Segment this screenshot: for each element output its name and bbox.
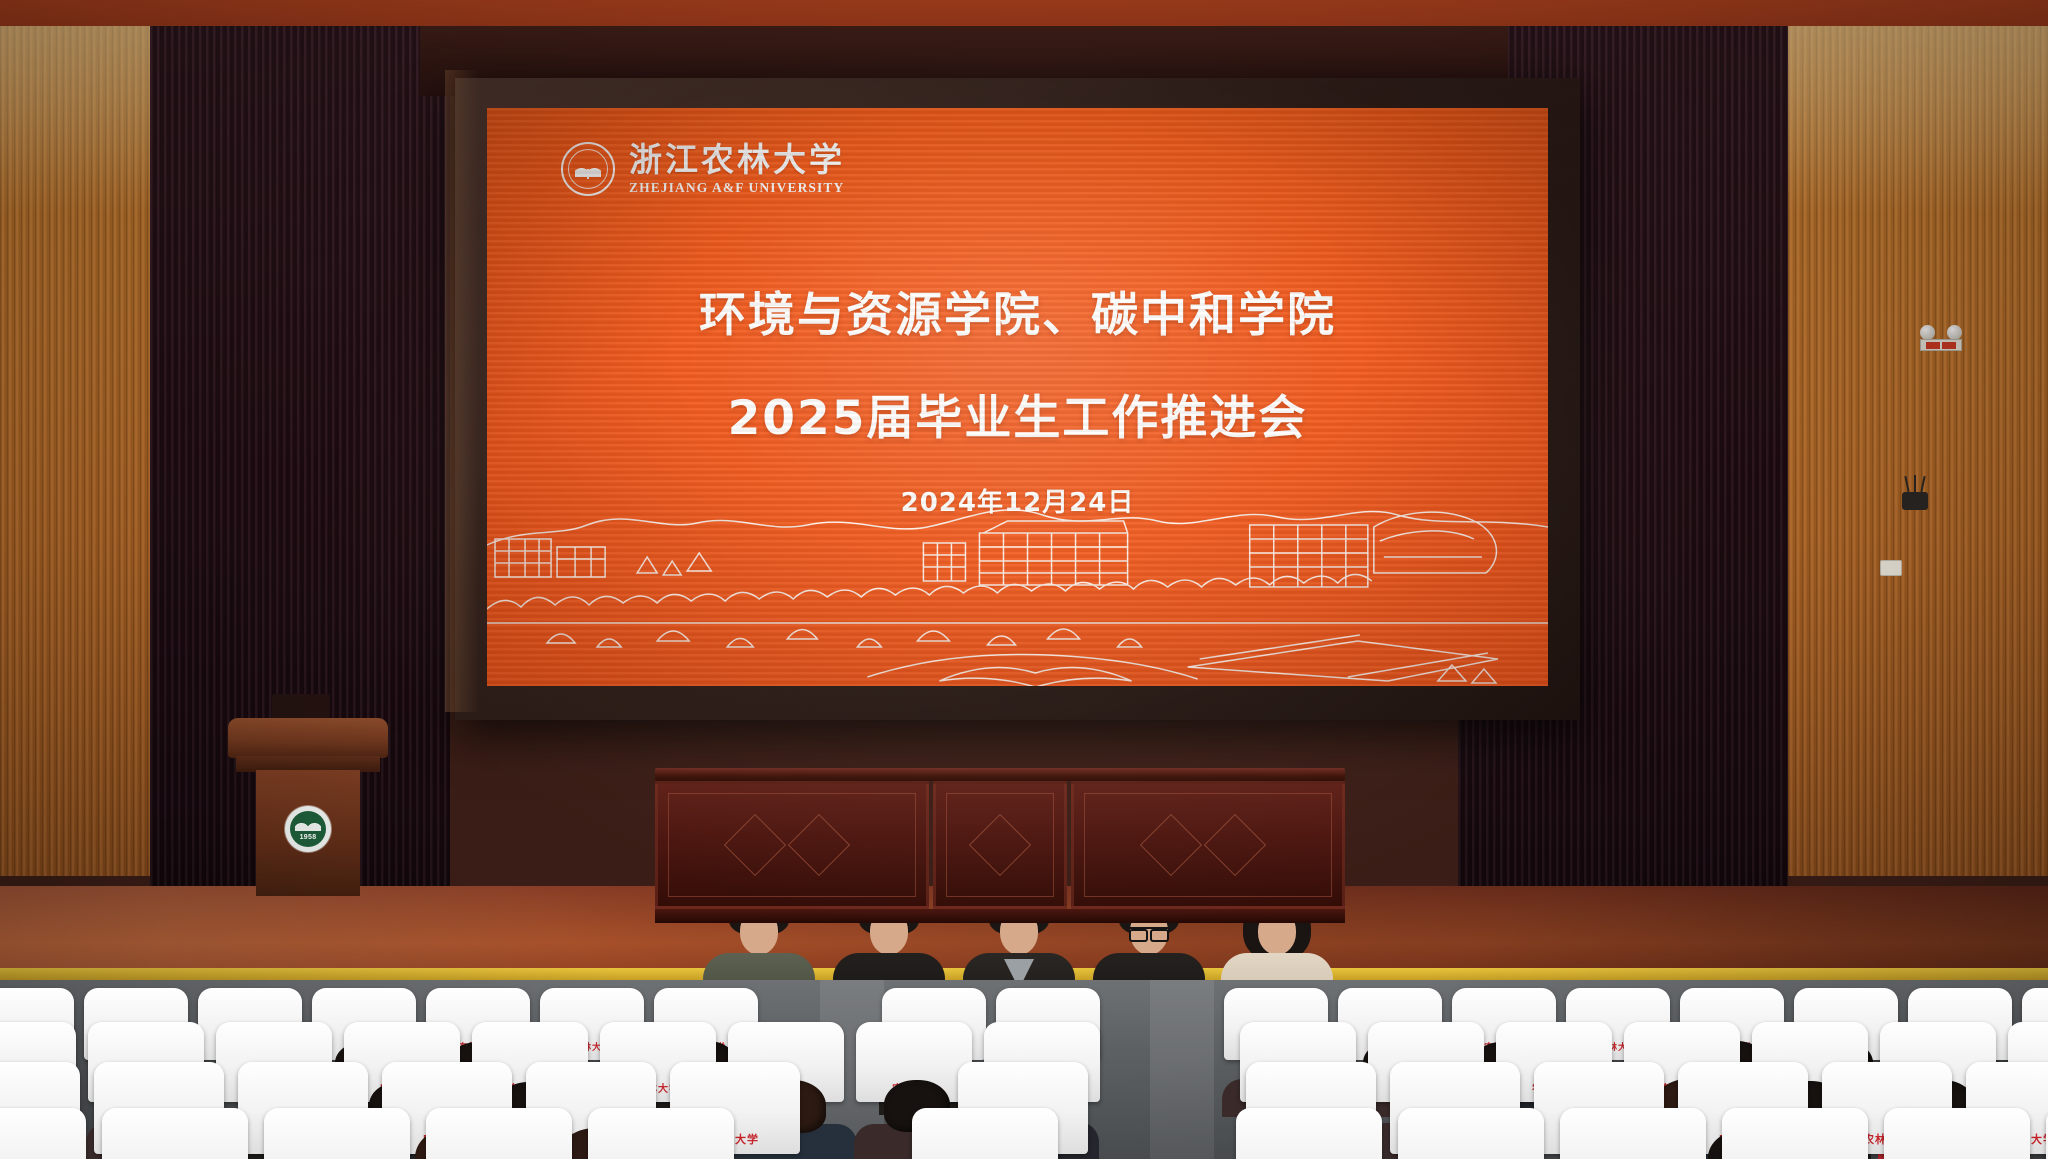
event-title-line-1: 环境与资源学院、碳中和学院 <box>487 276 1548 345</box>
led-screen-frame: 浙江农林大学 ZHEJIANG A&F UNIVERSITY 环境与资源学院、碳… <box>455 78 1580 720</box>
table-panel <box>655 781 929 909</box>
conference-photo: 浙江农林大学 ZHEJIANG A&F UNIVERSITY 环境与资源学院、碳… <box>0 0 2048 1159</box>
podium-seal-year: 1958 <box>300 834 317 841</box>
led-screen: 浙江农林大学 ZHEJIANG A&F UNIVERSITY 环境与资源学院、碳… <box>487 108 1548 686</box>
campus-skyline-artwork <box>487 481 1548 686</box>
wood-wall-left <box>0 26 150 876</box>
wall-outlet-icon <box>1880 560 1902 576</box>
podium-microphone-icon <box>272 694 330 720</box>
head-table <box>655 768 1345 923</box>
wifi-access-point-icon <box>1902 492 1928 510</box>
ceiling-band <box>0 0 2048 26</box>
university-seal-icon <box>561 142 615 196</box>
audience-seat: 农林大学 <box>1560 1108 1706 1159</box>
ginkgo-leaf-seal-icon: 1958 <box>285 806 331 852</box>
university-logo: 浙江农林大学 ZHEJIANG A&F UNIVERSITY <box>561 142 845 196</box>
audience-seat: 农林大学 <box>426 1108 572 1159</box>
podium: 1958 <box>232 690 384 896</box>
table-base-rail <box>655 909 1345 923</box>
emergency-light-icon <box>1920 325 1962 351</box>
audience-seat: 农林大学 <box>1236 1108 1382 1159</box>
table-panel <box>933 781 1067 909</box>
audience-seat: 农林大学 <box>1398 1108 1544 1159</box>
university-name-cn: 浙江农林大学 <box>629 143 845 176</box>
audience-seat: 农林大学 <box>102 1108 248 1159</box>
side-aisle <box>1150 980 1214 1159</box>
eyeglasses-icon <box>1129 927 1169 936</box>
audience-seat: 农林大学 <box>588 1108 734 1159</box>
audience-seat: 农林大学 <box>912 1108 1058 1159</box>
table-top-rail <box>655 768 1345 781</box>
podium-top <box>228 718 388 758</box>
table-panel <box>1071 781 1345 909</box>
wood-wall-right <box>1788 26 2048 876</box>
podium-body: 1958 <box>256 770 360 896</box>
audience-seat: 农林大学 <box>264 1108 410 1159</box>
audience-seat: 农林大学 <box>0 1108 86 1159</box>
audience-seat: 农林大学 <box>1884 1108 2030 1159</box>
event-title-line-2: 2025届毕业生工作推进会 <box>487 379 1548 448</box>
audience-seat: 农林大学 <box>1722 1108 1868 1159</box>
university-name-en: ZHEJIANG A&F UNIVERSITY <box>629 181 845 195</box>
